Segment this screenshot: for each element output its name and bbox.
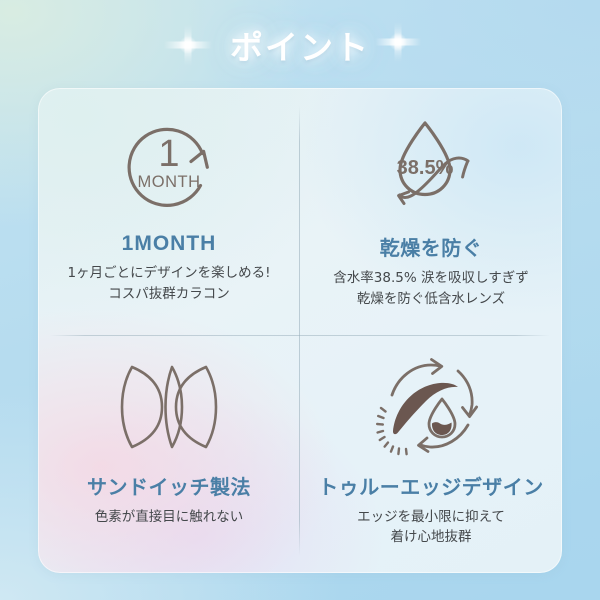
feature-heading: 乾燥を防ぐ [380,232,483,261]
water-drop-icon: 38.5% [375,106,487,228]
icon-value: 38.5% [397,157,454,179]
icon-number: 1 [158,133,179,175]
feature-heading: トゥルーエッジデザイン [318,471,544,500]
feature-body: エッジを最小限に抑えて 着け心地抜群 [357,507,505,549]
page-title-text: ポイント [230,21,370,69]
features-card: 1 MONTH 1MONTH 1ヶ月ごとにデザインを楽しめる! コスパ抜群カラコ… [38,88,562,573]
feature-body: 色素が直接目に触れない [95,507,244,528]
circular-arrow-icon: 1 MONTH [115,106,223,228]
promo-graphic: ポイント 1 MONTH 1MONTH 1ヶ月ごとにデザインを楽しめる! コスパ… [0,0,600,600]
page-title: ポイント [0,14,600,76]
icon-label: MONTH [138,173,201,191]
feature-one-month: 1 MONTH 1MONTH 1ヶ月ごとにデザインを楽しめる! コスパ抜群カラコ… [38,88,300,331]
lens-layers-icon [110,347,228,467]
feature-prevent-dryness: 38.5% 乾燥を防ぐ 含水率38.5% 涙を吸収しすぎず 乾燥を防ぐ低含水レン… [300,88,562,331]
feature-heading: 1MONTH [122,232,217,256]
feature-body: 含水率38.5% 涙を吸収しすぎず 乾燥を防ぐ低含水レンズ [333,268,528,310]
feature-heading: サンドイッチ製法 [87,471,251,500]
feature-sandwich-process: サンドイッチ製法 色素が直接目に触れない [38,331,300,574]
feature-true-edge-design: トゥルーエッジデザイン エッジを最小限に抑えて 着け心地抜群 [300,331,562,574]
eye-rotation-icon [372,347,490,467]
feature-body: 1ヶ月ごとにデザインを楽しめる! コスパ抜群カラコン [67,263,270,305]
